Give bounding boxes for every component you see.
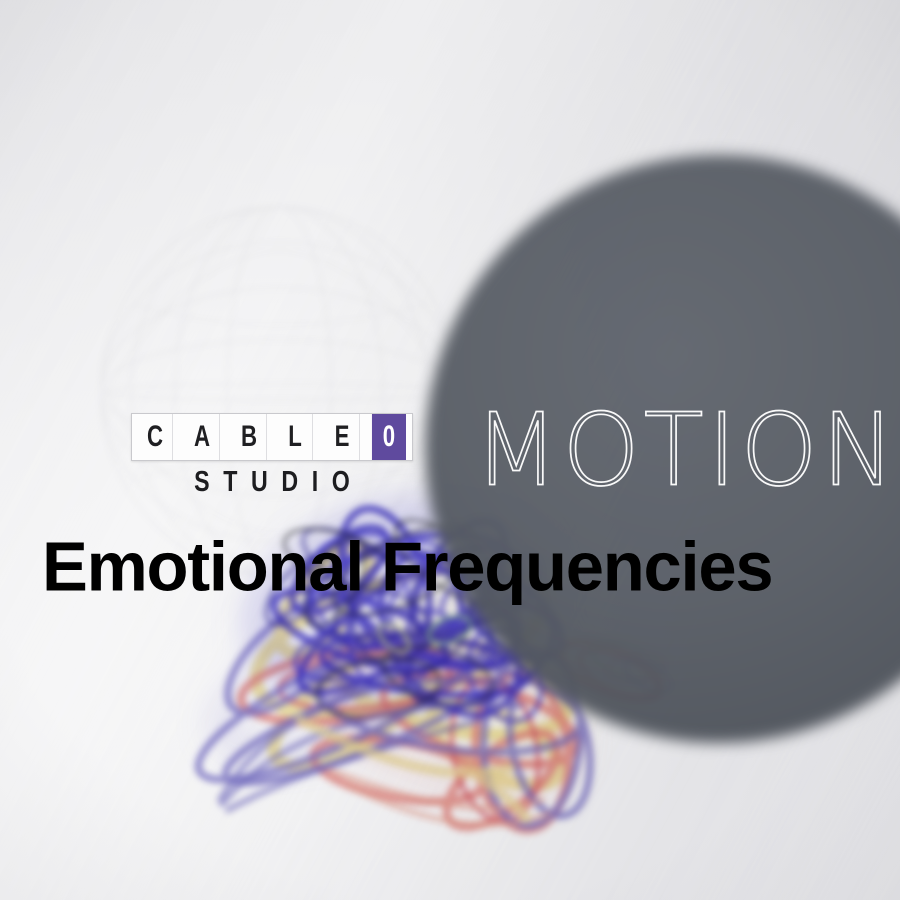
page-title: Emotional Frequencies: [42, 531, 896, 601]
logo-subtitle-studio: STUDIO: [159, 468, 385, 497]
logo-cell-e: E: [325, 414, 360, 460]
motion-wordmark: MOTION: [474, 401, 899, 501]
cable0-studio-logo[interactable]: C A B L E 0 STUDIO: [131, 413, 413, 497]
logo-cell-c: C: [138, 414, 173, 460]
logo-cell-l: L: [279, 414, 314, 460]
logo-cell-zero-accent: 0: [372, 414, 406, 460]
logo-cell-a: A: [185, 414, 220, 460]
poster-canvas: C A B L E 0 STUDIO MOTION Emotional Freq…: [0, 0, 900, 900]
logo-letter-row: C A B L E 0: [131, 413, 413, 461]
logo-cell-b: B: [232, 414, 267, 460]
